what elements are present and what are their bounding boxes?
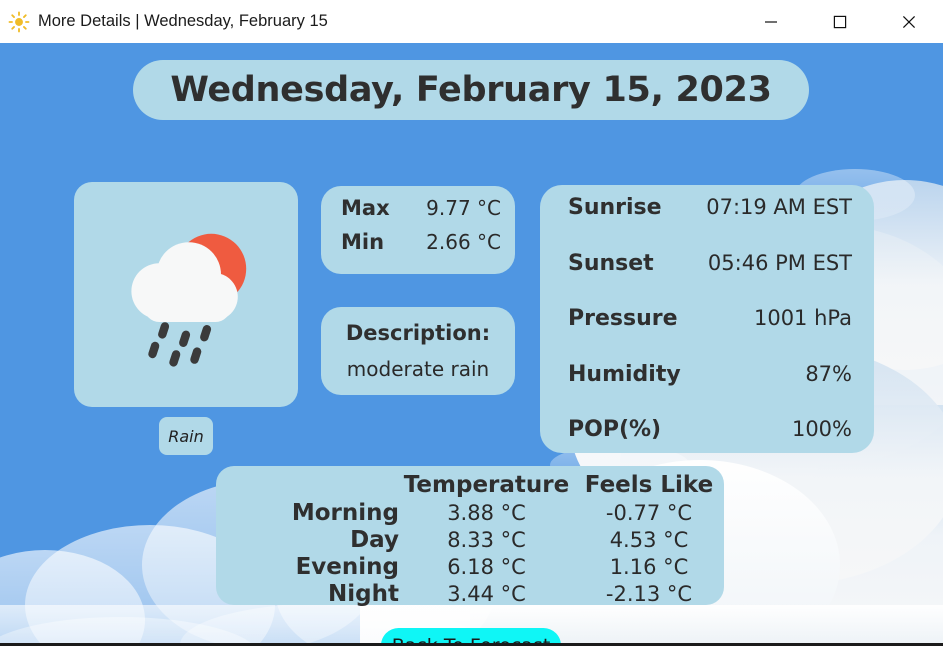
detail-row-pressure: Pressure 1001 hPa [568, 306, 852, 362]
close-button[interactable] [874, 0, 943, 43]
page-title-text: Wednesday, February 15, 2023 [170, 70, 771, 110]
more-details-window: More Details | Wednesday, February 15 [0, 0, 943, 646]
close-icon [902, 15, 916, 29]
table-row-label: Evening [234, 554, 399, 581]
table-row-label: Morning [234, 500, 399, 527]
detail-label: POP(%) [568, 417, 661, 442]
table-cell-temperature: 8.33 °C [399, 527, 574, 554]
sun-icon [8, 11, 30, 33]
weather-icon-panel [74, 182, 298, 407]
back-to-forecast-button[interactable]: Back To Forecast [381, 628, 561, 643]
title-bar: More Details | Wednesday, February 15 [0, 0, 943, 45]
weather-condition-chip: Rain [159, 417, 213, 455]
title-bar-left: More Details | Wednesday, February 15 [0, 11, 736, 33]
max-min-panel: Max 9.77 °C Min 2.66 °C [321, 186, 515, 274]
table-cell-feels-like: -2.13 °C [574, 581, 724, 608]
sky-background: Wednesday, February 15, 2023 [0, 45, 943, 643]
detail-label: Humidity [568, 362, 681, 387]
detail-value: 05:46 PM EST [708, 251, 852, 275]
detail-row-sunrise: Sunrise 07:19 AM EST [568, 195, 852, 251]
details-panel: Sunrise 07:19 AM EST Sunset 05:46 PM EST… [540, 185, 874, 453]
page-title: Wednesday, February 15, 2023 [133, 60, 809, 120]
detail-row-pop: POP(%) 100% [568, 417, 852, 473]
rain-with-sun-icon [102, 210, 270, 378]
max-label: Max [341, 196, 390, 220]
maximize-button[interactable] [805, 0, 874, 43]
detail-label: Sunrise [568, 195, 662, 220]
detail-label: Sunset [568, 251, 654, 276]
table-header-blank [234, 490, 399, 492]
table-header-temperature: Temperature [399, 472, 574, 500]
temperature-table: Temperature Feels Like Morning 3.88 °C -… [216, 466, 724, 605]
minimize-icon [764, 15, 778, 29]
min-row: Min 2.66 °C [341, 230, 501, 264]
table-cell-feels-like: 4.53 °C [574, 527, 724, 554]
table-cell-temperature: 3.44 °C [399, 581, 574, 608]
detail-value: 87% [805, 362, 852, 386]
table-row-label: Day [234, 527, 399, 554]
minimize-button[interactable] [736, 0, 805, 43]
description-value: moderate rain [347, 357, 489, 381]
table-cell-temperature: 6.18 °C [399, 554, 574, 581]
min-value: 2.66 °C [426, 230, 501, 254]
detail-row-sunset: Sunset 05:46 PM EST [568, 251, 852, 307]
detail-row-humidity: Humidity 87% [568, 362, 852, 418]
window-controls [736, 0, 943, 43]
detail-value: 1001 hPa [754, 306, 852, 330]
min-label: Min [341, 230, 384, 254]
max-value: 9.77 °C [426, 196, 501, 220]
detail-label: Pressure [568, 306, 678, 331]
detail-value: 07:19 AM EST [706, 195, 852, 219]
table-cell-temperature: 3.88 °C [399, 500, 574, 527]
table-row-label: Night [234, 581, 399, 608]
maximize-icon [833, 15, 847, 29]
max-row: Max 9.77 °C [341, 196, 501, 230]
description-label: Description: [346, 321, 490, 345]
table-cell-feels-like: 1.16 °C [574, 554, 724, 581]
description-panel: Description: moderate rain [321, 307, 515, 395]
weather-condition-label: Rain [168, 427, 204, 446]
table-cell-feels-like: -0.77 °C [574, 500, 724, 527]
window-title: More Details | Wednesday, February 15 [38, 12, 328, 31]
detail-value: 100% [792, 417, 852, 441]
temperature-table-grid: Temperature Feels Like Morning 3.88 °C -… [234, 472, 706, 608]
table-header-feels-like: Feels Like [574, 472, 724, 500]
content-area: Wednesday, February 15, 2023 [0, 45, 943, 643]
